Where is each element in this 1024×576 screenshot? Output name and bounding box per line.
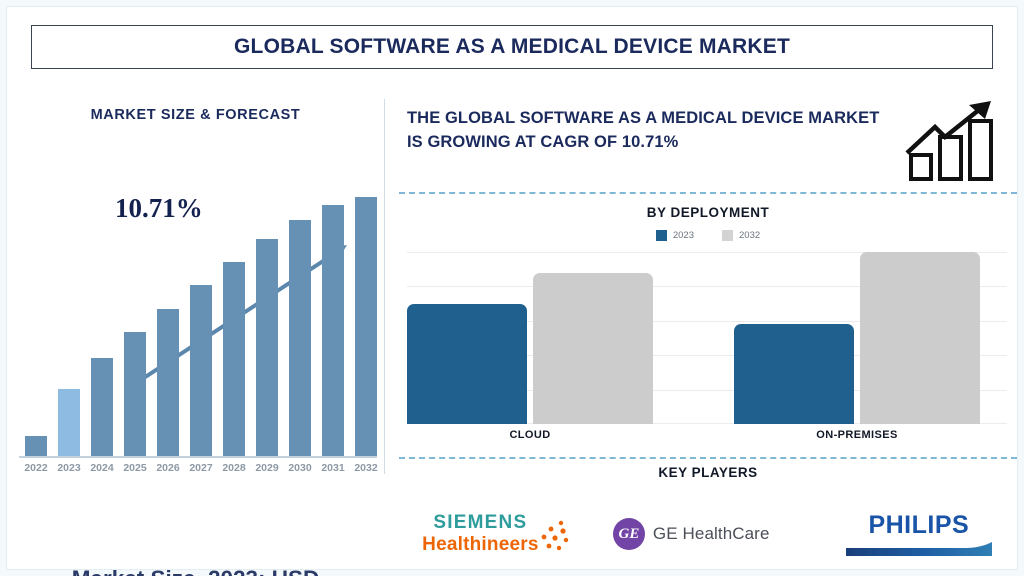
bar-2024: [91, 358, 113, 457]
philips-logo: PHILIPS: [844, 511, 994, 558]
bar-column: [256, 197, 278, 457]
bar-column: [322, 197, 344, 457]
siemens-wordmark: SIEMENS: [433, 512, 527, 534]
ge-monogram-icon: GE: [613, 518, 645, 550]
deployment-section-title: BY DEPLOYMENT: [385, 205, 1024, 220]
year-label: 2023: [54, 462, 84, 474]
bar-2027: [190, 285, 212, 457]
legend-swatch-icon: [656, 230, 667, 241]
year-label: 2026: [153, 462, 183, 474]
legend-item-2032: 2032: [722, 230, 760, 241]
bar-2028: [223, 262, 245, 457]
market-size-footer-line1: Market Size, 2023: USD: [13, 565, 378, 576]
year-label: 2024: [87, 462, 117, 474]
siemens-healthineers-logo: SIEMENS Healthineers: [422, 512, 538, 556]
deploy-bar-cloud-2032: [533, 273, 653, 424]
bar-2030: [289, 220, 311, 457]
market-size-bars: [19, 197, 377, 457]
divider-dashed-bottom: [399, 457, 1017, 459]
siemens-dots-icon: [541, 520, 573, 554]
bar-column: [25, 197, 47, 457]
right-panel: THE GLOBAL SOFTWARE AS A MEDICAL DEVICE …: [385, 87, 1024, 576]
deploy-bar-onprem-2023: [734, 324, 854, 424]
year-label: 2028: [219, 462, 249, 474]
bar-column: [190, 197, 212, 457]
bar-2025: [124, 332, 146, 457]
deploy-bar-onprem-2032: [860, 252, 980, 424]
legend-label: 2023: [673, 230, 694, 241]
growth-bars-arrow-icon: [901, 97, 1007, 183]
bar-column: [289, 197, 311, 457]
page-title-box: GLOBAL SOFTWARE AS A MEDICAL DEVICE MARK…: [31, 25, 993, 69]
deploy-category-onpremises: ON-PREMISES: [734, 429, 980, 441]
year-label: 2027: [186, 462, 216, 474]
key-players-title: KEY PLAYERS: [385, 465, 1024, 480]
page-title: GLOBAL SOFTWARE AS A MEDICAL DEVICE MARK…: [234, 35, 790, 59]
ge-healthcare-wordmark: GE HealthCare: [653, 524, 770, 544]
key-players-logos: SIEMENS Healthineers GE: [385, 491, 1024, 576]
philips-wordmark: PHILIPS: [868, 511, 969, 540]
legend-item-2023: 2023: [656, 230, 694, 241]
bar-column: [157, 197, 179, 457]
market-size-heading: MARKET SIZE & FORECAST: [7, 107, 384, 123]
market-size-footer: Market Size, 2023: USD 5,588.56 Million: [13, 565, 378, 576]
ge-healthcare-logo: GE GE HealthCare: [613, 518, 770, 550]
deploy-bar-cloud-2023: [407, 304, 527, 424]
year-label: 2030: [285, 462, 315, 474]
infographic-canvas: GLOBAL SOFTWARE AS A MEDICAL DEVICE MARK…: [0, 0, 1024, 576]
bar-2022: [25, 436, 47, 457]
deployment-legend: 2023 2032: [385, 230, 1024, 241]
bar-2023: [58, 389, 80, 457]
year-axis-labels: 2022 2023 2024 2025 2026 2027 2028 2029 …: [19, 462, 377, 480]
bar-column: [58, 197, 80, 457]
legend-label: 2032: [739, 230, 760, 241]
x-axis-line: [19, 456, 377, 458]
bar-column: [223, 197, 245, 457]
year-label: 2022: [21, 462, 51, 474]
philips-wave-icon: [846, 542, 992, 558]
cagr-headline: THE GLOBAL SOFTWARE AS A MEDICAL DEVICE …: [407, 107, 887, 155]
divider-dashed-top: [399, 192, 1017, 194]
bar-column: [355, 197, 377, 457]
year-label: 2029: [252, 462, 282, 474]
bar-2032: [355, 197, 377, 457]
deploy-category-cloud: CLOUD: [407, 429, 653, 441]
year-label: 2031: [318, 462, 348, 474]
bar-column: [91, 197, 113, 457]
bar-2031: [322, 205, 344, 457]
year-label: 2032: [351, 462, 381, 474]
legend-swatch-icon: [722, 230, 733, 241]
bar-2026: [157, 309, 179, 457]
left-panel: MARKET SIZE & FORECAST 10.71%: [7, 87, 384, 576]
year-label: 2025: [120, 462, 150, 474]
infographic-inner-frame: GLOBAL SOFTWARE AS A MEDICAL DEVICE MARK…: [6, 6, 1018, 570]
bar-2029: [256, 239, 278, 457]
deployment-bar-chart: [407, 252, 1007, 424]
bar-column: [124, 197, 146, 457]
healthineers-wordmark: Healthineers: [422, 534, 538, 556]
